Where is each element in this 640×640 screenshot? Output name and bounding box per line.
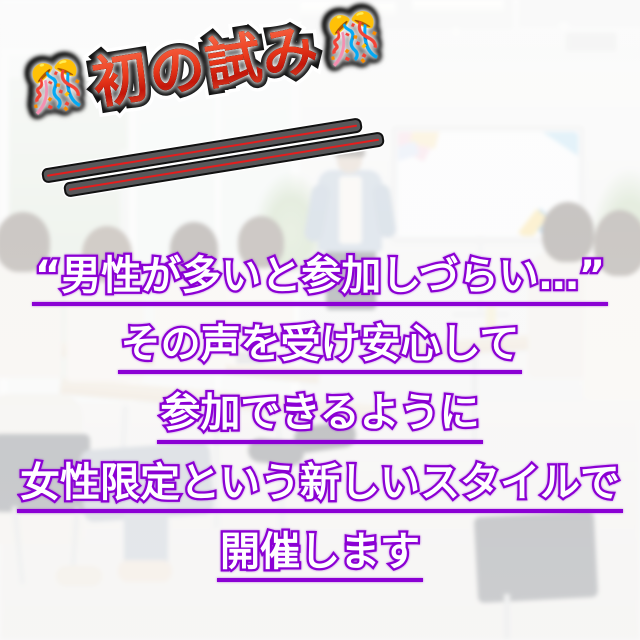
banner-title-row: 🎊 初の試み 初の試み 初の試み 🎊 [22, 0, 389, 130]
copy-line-text: 参加できるように [160, 390, 479, 437]
poster-canvas: 🎊 初の試み 初の試み 初の試み 🎊 “男性が多いと参加しづらい…” その声を受… [0, 0, 640, 640]
copy-line-text: 開催します [220, 529, 420, 576]
copy-line-2: その声を受け安心して [118, 321, 523, 374]
copy-line-1: “男性が多いと参加しづらい…” [32, 253, 608, 306]
copy-line-3: 参加できるように [157, 390, 482, 443]
copy-line-text: 女性限定という新しいスタイルで [20, 460, 620, 507]
confetti-ball-icon: 🎊 [322, 10, 386, 65]
copy-line-4: 女性限定という新しいスタイルで [17, 460, 623, 513]
copy-line-text: “男性が多いと参加しづらい…” [35, 253, 605, 300]
copy-line-5: 開催します [217, 529, 423, 582]
page-title: 初の試み [82, 16, 329, 119]
header-banner: 🎊 初の試み 初の試み 初の試み 🎊 [0, 0, 640, 190]
copy-line-text: その声を受け安心して [121, 321, 520, 368]
confetti-ball-icon: 🎊 [24, 59, 88, 114]
copy-block: “男性が多いと参加しづらい…” その声を受け安心して 参加できるように 女性限定… [0, 253, 640, 582]
